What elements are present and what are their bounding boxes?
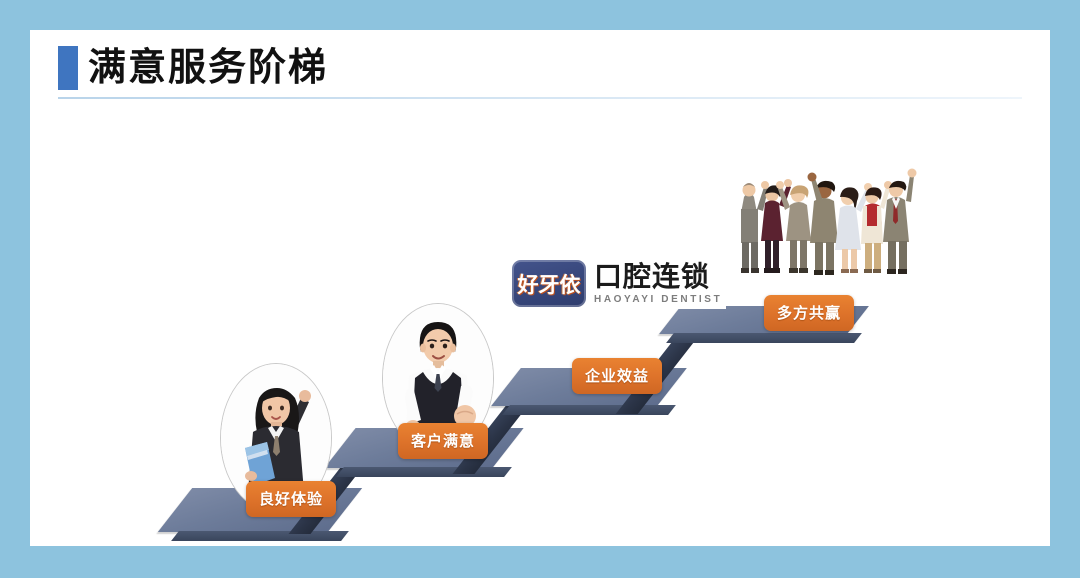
title-accent-bar xyxy=(58,46,78,90)
step-2-edge xyxy=(336,467,512,477)
step-label-4[interactable]: 多方共赢 xyxy=(764,295,854,331)
slide-header: 满意服务阶梯 xyxy=(30,30,1050,98)
brand-name-en: HAOYAYI DENTIST xyxy=(594,295,722,305)
step-1-edge xyxy=(171,531,349,541)
staircase-diagram: 好牙依 口腔连锁 HAOYAYI DENTIST 良好体验 客户满意 企业效益 … xyxy=(30,98,1050,546)
slide-border: 满意服务阶梯 xyxy=(0,0,1080,578)
step-3-edge xyxy=(502,405,676,415)
figure-team-celebrating xyxy=(720,163,920,288)
brand-logo-mark-text: 好牙依 xyxy=(518,269,581,299)
brand-logo: 好牙依 口腔连锁 HAOYAYI DENTIST xyxy=(508,258,726,309)
slide-canvas: 满意服务阶梯 xyxy=(30,30,1050,546)
step-label-2[interactable]: 客户满意 xyxy=(398,423,488,459)
page-title: 满意服务阶梯 xyxy=(88,44,328,92)
step-4-edge xyxy=(666,333,862,343)
step-label-1[interactable]: 良好体验 xyxy=(246,481,336,517)
brand-logo-text: 口腔连锁 HAOYAYI DENTIST xyxy=(594,263,722,305)
brand-name-cn: 口腔连锁 xyxy=(594,263,722,291)
step-label-3[interactable]: 企业效益 xyxy=(572,358,662,394)
brand-logo-mark: 好牙依 xyxy=(512,260,586,307)
